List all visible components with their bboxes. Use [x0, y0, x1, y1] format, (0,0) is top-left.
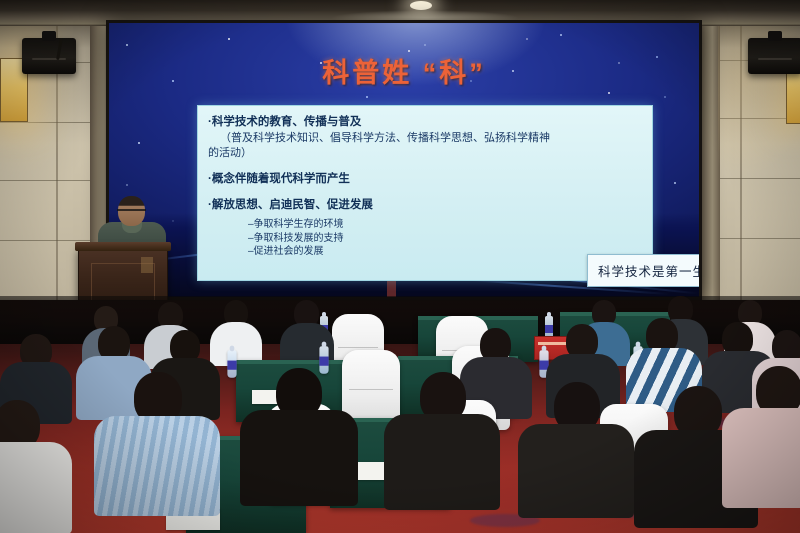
wall-speaker-right-bracket [768, 31, 782, 41]
slide-bullet-3: ·解放思想、启迪民智、促进发展 [208, 197, 642, 214]
slide-sub-item: –争取科学生存的环境 [208, 218, 642, 232]
water-bottle [227, 350, 236, 378]
water-bottle [319, 346, 328, 374]
slide-sub-item: –促进社会的发展 [208, 245, 642, 259]
podium-plate [141, 257, 153, 273]
wall-speaker-right [748, 38, 800, 74]
slide-bullet-1: ·科学技术的教育、传播与普及 [208, 114, 642, 131]
slide-sub-item: –争取科技发展的支持 [208, 232, 642, 246]
ceiling-downlight [410, 1, 432, 10]
presentation-slide: 科普姓 “科” ·科学技术的教育、传播与普及 （普及科学技术知识、倡导科学方法、… [109, 23, 699, 297]
podium-top-surface [75, 242, 171, 251]
bullet-text: 解放思想、启迪民智、促进发展 [212, 199, 373, 211]
slide-bullet-1-sub2: 的活动） [208, 146, 642, 162]
conference-hall-photo: 科普姓 “科” ·科学技术的教育、传播与普及 （普及科学技术知识、倡导科学方法、… [0, 0, 800, 533]
projection-screen: 科普姓 “科” ·科学技术的教育、传播与普及 （普及科学技术知识、倡导科学方法、… [106, 20, 702, 300]
slide-bullet-1-sub: （普及科学技术知识、倡导科学方法、传播科学思想、弘扬科学精神 [208, 131, 642, 147]
bullet-text: 科学技术的教育、传播与普及 [212, 116, 362, 128]
slide-content-box: ·科学技术的教育、传播与普及 （普及科学技术知识、倡导科学方法、传播科学思想、弘… [197, 105, 653, 281]
wall-speaker-left-bracket [42, 31, 56, 41]
slide-bullet-2: ·概念伴随着现代科学而产生 [208, 171, 642, 188]
glasses-icon [117, 209, 146, 216]
wall-speaker-left [22, 38, 76, 74]
bullet-text: 概念伴随着现代科学而产生 [212, 173, 350, 185]
slide-title: 科普姓 “科” [109, 51, 699, 90]
slide-callout-box: 科学技术是第一生产力 [587, 254, 699, 287]
